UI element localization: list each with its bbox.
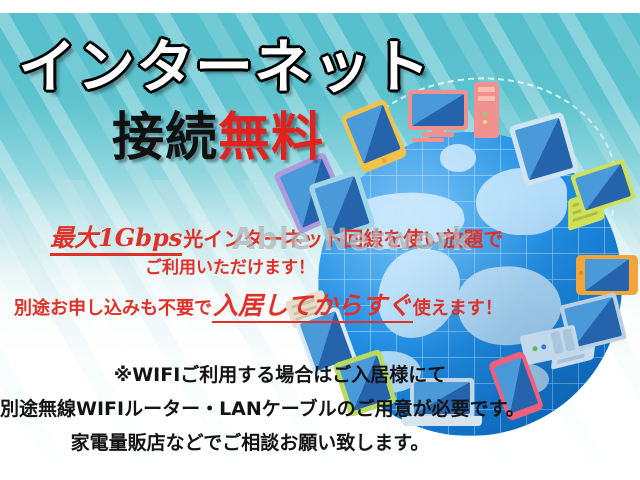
move-in-prefix: 別途お申し込みも不要で xyxy=(14,298,212,319)
tablet-orange-icon xyxy=(576,255,638,295)
availability-line: ご利用いただけます！ xyxy=(0,253,460,278)
move-in-line: 別途お申し込みも不要で入居してからすぐ使えます！ xyxy=(14,286,503,322)
move-in-suffix: 使えます！ xyxy=(413,298,503,319)
subtitle-black: 接続 xyxy=(112,108,218,168)
note-line-2: 別途無線WIFIルーター・LANケーブルのご用意が必要です。 xyxy=(0,394,520,421)
speed-line: 最大1Gbps光インターネット回線を使い放題で xyxy=(50,218,503,253)
desktop-tower-icon xyxy=(474,82,499,138)
subtitle: 接続無料 xyxy=(112,112,324,164)
speed-rest: 光インターネット回線を使い放題で xyxy=(183,227,503,251)
note-line-1: ※WIFIご利用する場合はご入居様にて xyxy=(0,360,560,387)
internet-free-poster: インターネット 接続無料 最大1Gbps光インターネット回線を使い放題で ご利用… xyxy=(0,0,640,480)
page-title: インターネット xyxy=(18,38,448,96)
subtitle-red: 無料 xyxy=(218,108,324,168)
move-in-emphasis: 入居してからすぐ xyxy=(212,291,413,323)
top-white-strip xyxy=(0,0,640,13)
note-line-3: 家電量販店などでご相談お願い致します。 xyxy=(0,428,500,455)
speed-highlight: 最大1Gbps xyxy=(50,223,182,256)
